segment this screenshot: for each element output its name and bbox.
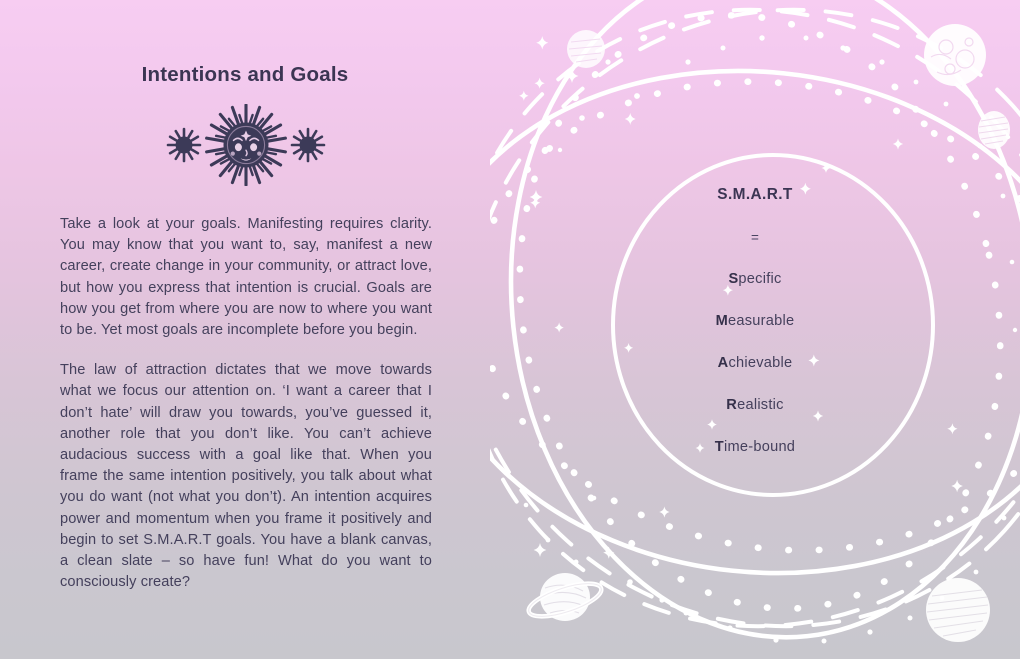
paragraph-1: Take a look at your goals. Manifesting r… [60, 214, 432, 341]
smart-item-lead: R [726, 397, 737, 413]
smart-item-specific: Specific [490, 271, 1020, 287]
smart-item-realistic: Realistic [490, 397, 1020, 413]
body-copy: Take a look at your goals. Manifesting r… [60, 214, 432, 593]
smart-equals-sign: = [490, 230, 1020, 245]
smart-item-measurable: Measurable [490, 313, 1020, 329]
sun-face-icon [207, 105, 286, 185]
smart-panel: S.M.A.R.T = Specific Measurable Achievab… [490, 186, 1020, 455]
book-spread: Intentions and Goals [0, 0, 1020, 659]
smart-item-rest: ime-bound [724, 439, 795, 455]
sun-face-ornament [0, 104, 490, 186]
paragraph-2: The law of attraction dictates that we m… [60, 360, 432, 593]
smart-item-achievable: Achievable [490, 355, 1020, 371]
smart-item-lead: S [728, 271, 738, 287]
hatched-planet-icon [926, 578, 990, 642]
right-page: S.M.A.R.T = Specific Measurable Achievab… [490, 0, 1020, 659]
hatched-planet-small-icon [978, 111, 1010, 149]
smart-title: S.M.A.R.T [490, 186, 1020, 204]
smart-item-time-bound: Time-bound [490, 439, 1020, 455]
smart-item-rest: ealistic [737, 397, 784, 413]
sun-ornament-svg [0, 104, 490, 186]
smart-item-lead: A [718, 355, 729, 371]
left-page: Intentions and Goals [0, 0, 490, 659]
smart-item-rest: pecific [738, 271, 781, 287]
hatched-planet-topleft-icon [567, 30, 605, 68]
smart-item-lead: M [716, 313, 728, 329]
crater-moon-icon [924, 24, 986, 86]
saturn-planet-icon [525, 573, 605, 623]
small-sunburst-left-icon [168, 129, 200, 161]
page-title: Intentions and Goals [0, 63, 490, 87]
smart-item-rest: easurable [728, 313, 794, 329]
small-sunburst-right-icon [292, 129, 324, 161]
smart-item-rest: chievable [728, 355, 792, 371]
smart-item-lead: T [715, 439, 724, 455]
